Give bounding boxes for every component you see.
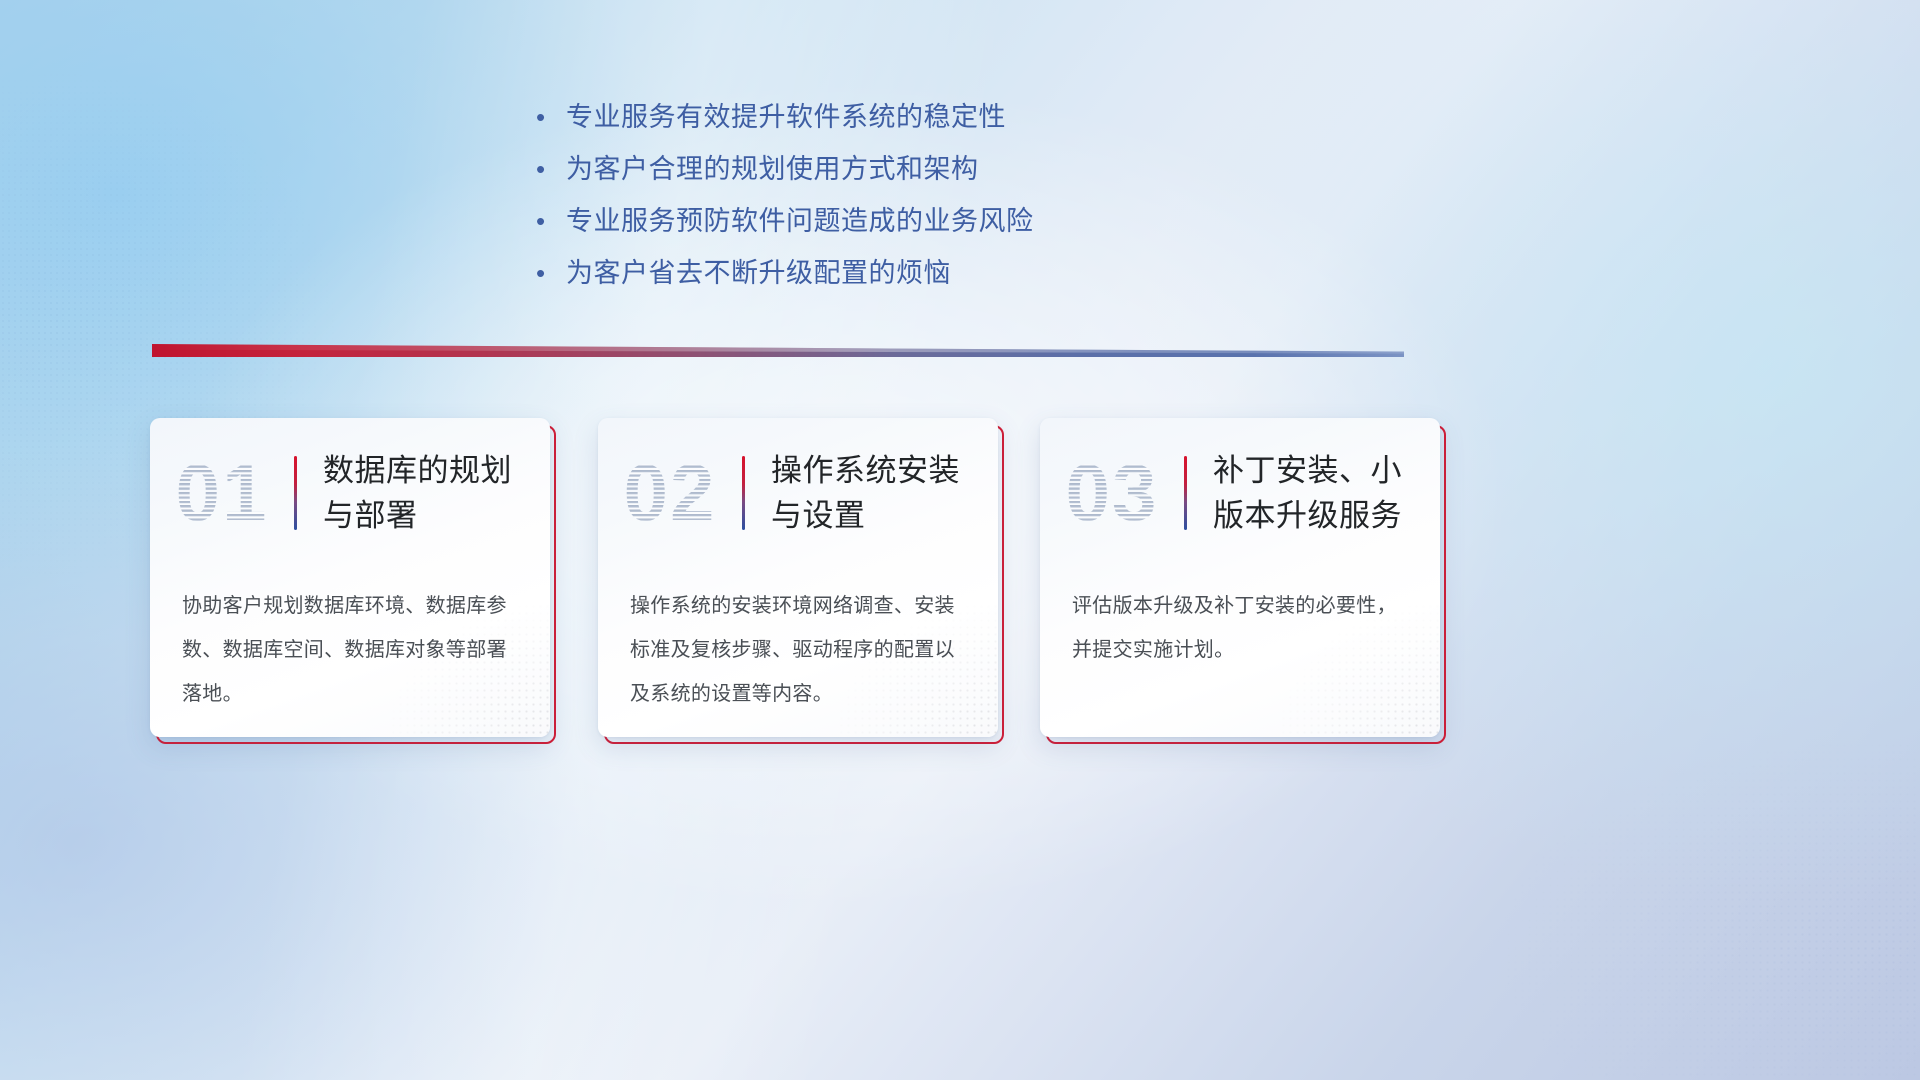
card-number-text: 02 — [624, 448, 717, 537]
card-surface: 03 补丁安装、小版本升级服务 评估版本升级及补丁安装的必要性，并提交实施计划。 — [1040, 418, 1440, 737]
card-surface: 01 数据库的规划与部署 协助客户规划数据库环境、数据库参数、数据库空间、数据库… — [150, 418, 550, 737]
service-card-01[interactable]: 01 数据库的规划与部署 协助客户规划数据库环境、数据库参数、数据库空间、数据库… — [150, 418, 556, 744]
service-card-03[interactable]: 03 补丁安装、小版本升级服务 评估版本升级及补丁安装的必要性，并提交实施计划。 — [1040, 418, 1446, 744]
card-header: 01 数据库的规划与部署 — [150, 430, 550, 556]
card-description: 操作系统的安装环境网络调查、安装标准及复核步骤、驱动程序的配置以及系统的设置等内… — [630, 584, 972, 716]
card-number-watermark: 01 — [150, 430, 294, 556]
card-header: 03 补丁安装、小版本升级服务 — [1040, 430, 1440, 556]
card-number-text: 01 — [176, 448, 269, 537]
card-number-text: 03 — [1066, 448, 1159, 537]
card-title: 操作系统安装与设置 — [745, 448, 998, 538]
card-number-watermark: 03 — [1040, 430, 1184, 556]
card-header: 02 操作系统安装与设置 — [598, 430, 998, 556]
service-card-02[interactable]: 02 操作系统安装与设置 操作系统的安装环境网络调查、安装标准及复核步骤、驱动程… — [598, 418, 1004, 744]
card-description: 协助客户规划数据库环境、数据库参数、数据库空间、数据库对象等部署落地。 — [182, 584, 524, 716]
card-surface: 02 操作系统安装与设置 操作系统的安装环境网络调查、安装标准及复核步骤、驱动程… — [598, 418, 998, 737]
card-title: 数据库的规划与部署 — [297, 448, 550, 538]
card-number-watermark: 02 — [598, 430, 742, 556]
service-card-group: 01 数据库的规划与部署 协助客户规划数据库环境、数据库参数、数据库空间、数据库… — [0, 0, 1920, 1080]
card-description: 评估版本升级及补丁安装的必要性，并提交实施计划。 — [1072, 584, 1414, 672]
card-title: 补丁安装、小版本升级服务 — [1187, 448, 1440, 538]
